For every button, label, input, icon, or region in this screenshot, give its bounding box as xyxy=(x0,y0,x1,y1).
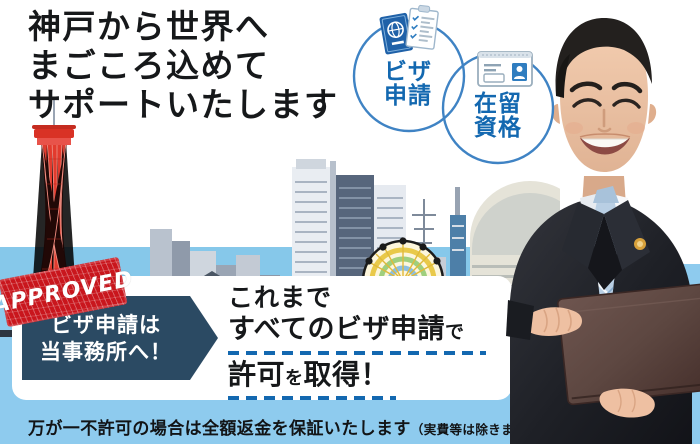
promo-line-3-particle: を xyxy=(285,368,304,389)
guarantee-text-main: 万が一不許可の場合は全額返金を保証いたします xyxy=(28,419,411,439)
promo-line-3: 許可を取得！ xyxy=(228,357,389,395)
promo-line-3-main-2: 取得 xyxy=(304,358,361,391)
promo-line-2: すべてのビザ申請で xyxy=(228,313,465,350)
circle-residence-label-line2: 資格 xyxy=(450,116,546,140)
circle-residence-label-line1: 在留 xyxy=(450,92,546,116)
promo-text-block: これまで すべてのビザ申請で 許可を取得！ xyxy=(228,283,486,400)
arrow-banner-line-2: 当事務所へ！ xyxy=(22,339,190,366)
circle-residence-label: 在留 資格 xyxy=(450,92,546,141)
promo-line-3-main-1: 許可 xyxy=(228,358,285,391)
promo-underline-2 xyxy=(228,396,396,400)
headline-line-2: まごころ込めて xyxy=(28,47,388,86)
arrow-banner-text: ビザ申請は 当事務所へ！ xyxy=(22,312,190,367)
promo-line-2-suffix: で xyxy=(445,321,465,343)
headline-line-1: 神戸から世界へ xyxy=(28,8,388,47)
promo-line-1: これまで xyxy=(228,283,486,313)
headline-line-3: サポートいたします xyxy=(28,86,388,125)
guarantee-footer-text: 万が一不許可の場合は全額返金を保証いたします（実費等は除きます） xyxy=(28,414,540,439)
visa-service-banner: 神戸から世界へ まごころ込めて サポートいたします ビザ 申請 在留 資格 xyxy=(0,0,700,444)
headline: 神戸から世界へ まごころ込めて サポートいたします xyxy=(28,8,388,125)
promo-line-3-mark: ！ xyxy=(361,358,390,391)
promo-line-2-main: すべてのビザ申請 xyxy=(228,314,445,345)
